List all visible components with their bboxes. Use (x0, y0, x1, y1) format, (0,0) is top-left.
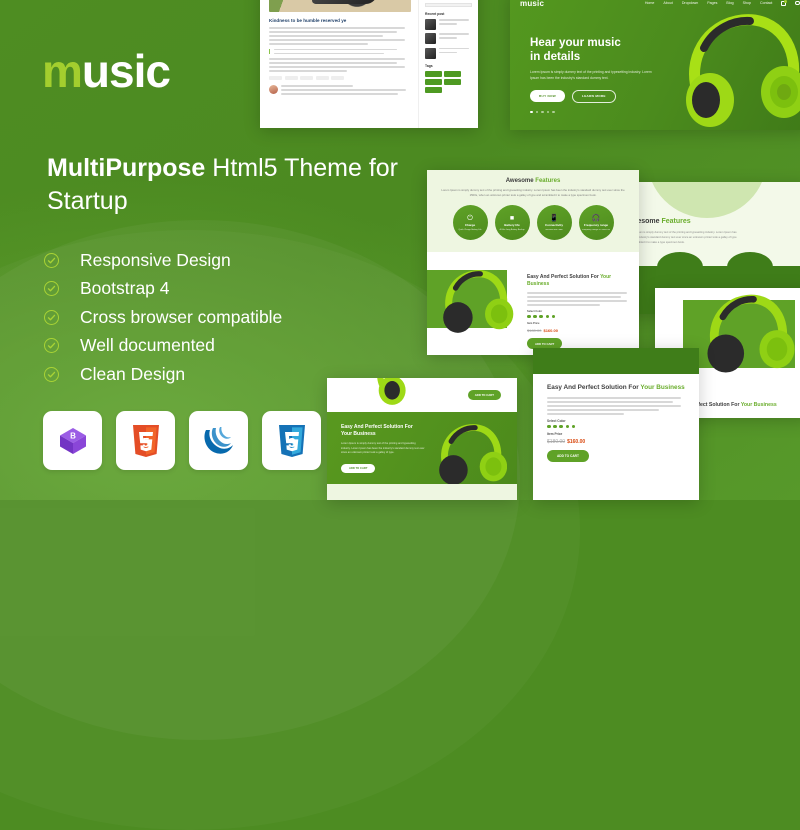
heading-accent: Your Business (741, 402, 777, 408)
color-swatch[interactable] (559, 425, 563, 429)
title-accent: Features (535, 178, 560, 184)
bluetooth-icon: 📱 (550, 215, 559, 222)
list-item: Clean Design (44, 360, 282, 389)
tag-chip[interactable] (444, 79, 461, 85)
color-swatch[interactable] (552, 315, 556, 319)
bottom-product-mockup: Easy And Perfect Solution For Your Busin… (533, 348, 699, 500)
feature-card-row: ⏻ Charge Quick Charge Battery Life ■ Bat… (441, 205, 625, 240)
search-icon[interactable] (795, 1, 800, 6)
buy-now-button[interactable]: BUY NOW (530, 90, 565, 102)
add-to-cart-button[interactable]: ADD TO CART (547, 450, 589, 462)
nav-item-pages[interactable]: Pages (707, 1, 717, 5)
feature-card-connectivity[interactable]: 📱 Connectivity Wireless and Cable (537, 205, 572, 240)
color-swatch[interactable] (527, 315, 531, 319)
hero-nav-menu: Home About Dropdown Pages Blog Shop Cont… (645, 1, 800, 6)
price-new: $160.00 (543, 328, 557, 333)
heading-plain: Easy And Perfect Solution For (547, 384, 640, 391)
slider-dots[interactable] (530, 111, 655, 114)
hero-copy-block: Hear your music in details Lorem Ipsum i… (530, 36, 655, 113)
svg-text:3: 3 (288, 435, 295, 450)
brand-logo-rest: usic (82, 45, 170, 97)
color-swatch[interactable] (553, 425, 557, 429)
hero-button-group: BUY NOW LEARN MORE (530, 90, 655, 103)
bottom-product-price: $180.00$160.00 (547, 439, 687, 445)
slider-dot[interactable] (536, 111, 539, 114)
select-color-label: Select Color (527, 310, 631, 313)
feature-name: Battery life (504, 223, 520, 227)
jquery-icon (202, 426, 236, 456)
list-item: Bootstrap 4 (44, 275, 282, 304)
feature-list: Responsive Design Bootstrap 4 Cross brow… (44, 246, 282, 389)
list-item: Well documented (44, 332, 282, 361)
sidebar-tags-heading: Tags (425, 64, 472, 68)
features-subtitle: Lorem Ipsum is simply dummy text of the … (441, 188, 625, 198)
bootstrap-icon: B (57, 425, 89, 457)
heading-plain: Easy And Perfect Solution For (527, 274, 600, 280)
feature-desc: Wireless and Cable (545, 229, 562, 232)
color-swatch[interactable] (546, 315, 550, 319)
title-plain: Awesome (506, 178, 536, 184)
tag-chip[interactable] (444, 71, 461, 77)
item-price-label: Item Price (547, 432, 687, 436)
list-item: Responsive Design (44, 246, 282, 275)
html5-badge: 5 (116, 411, 175, 470)
bootstrap-badge: B (43, 411, 102, 470)
features-section: Awesome Features Lorem Ipsum is simply d… (427, 170, 639, 252)
feature-desc: Frequency Range 20 20000 Hz (582, 229, 610, 232)
headline-bold: MultiPurpose (47, 154, 205, 182)
hero-paragraph: Lorem Ipsum is simply dummy text of the … (530, 70, 655, 81)
battery-icon: ■ (510, 215, 514, 222)
card-top-band (533, 348, 699, 374)
price-old: $180.00 (547, 439, 565, 445)
slider-dot[interactable] (552, 111, 555, 114)
bottom-product-heading: Easy And Perfect Solution For Your Busin… (547, 384, 687, 393)
heading-accent: Your Business (640, 384, 684, 391)
promo-panel: music MultiPurpose Html5 Theme for Start… (0, 0, 430, 500)
list-item: Cross browser compatible (44, 303, 282, 332)
product-copy: Easy And Perfect Solution For Your Busin… (527, 274, 631, 349)
sidebar-recent-heading: Recent post (425, 12, 472, 16)
jquery-badge (189, 411, 248, 470)
bottom-product-copy: Easy And Perfect Solution For Your Busin… (547, 384, 687, 462)
nav-item-contact[interactable]: Contact (760, 1, 772, 5)
hero-heading-line1: Hear your music (530, 36, 655, 50)
nav-item-home[interactable]: Home (645, 1, 655, 5)
check-circle-icon (44, 310, 59, 325)
sidebar-field[interactable] (425, 3, 472, 8)
features-page-mockup: Awesome Features Lorem Ipsum is simply d… (427, 170, 639, 355)
product-heading: Easy And Perfect Solution For Your Busin… (527, 274, 631, 288)
color-swatch[interactable] (539, 315, 543, 319)
feature-desc: Quick Charge Battery Life (459, 229, 482, 232)
plug-icon: ⏻ (467, 215, 473, 222)
headphone-illustration (433, 422, 507, 486)
nav-item-about[interactable]: About (663, 1, 672, 5)
page-title: MultiPurpose Html5 Theme for Startup (47, 152, 407, 217)
add-to-cart-button[interactable]: ADD TO CART (468, 390, 501, 400)
nav-item-shop[interactable]: Shop (743, 1, 751, 5)
svg-text:5: 5 (142, 435, 149, 450)
color-swatch[interactable] (533, 315, 537, 319)
feature-label: Responsive Design (80, 250, 231, 271)
feature-card-frequency[interactable]: 🎧 Frequency range Frequency Range 20 200… (579, 205, 614, 240)
hero-heading: Hear your music in details (530, 36, 655, 64)
tech-badge-row: B 5 3 (43, 411, 321, 470)
color-swatch[interactable] (572, 425, 576, 429)
hero-page-mockup: music Home About Dropdown Pages Blog Sho… (510, 0, 800, 130)
feature-label: Cross browser compatible (80, 307, 282, 328)
price-old: $180.00 (527, 328, 541, 333)
decorative-curve (647, 182, 767, 218)
product-price: $180.00$160.00 (527, 328, 631, 333)
right-features-paragraph: Lorem Ipsum is simply dummy text of the … (627, 230, 737, 245)
hero-navbar: music Home About Dropdown Pages Blog Sho… (510, 0, 800, 14)
nav-item-dropdown[interactable]: Dropdown (682, 1, 698, 5)
select-color-label: Select Color (547, 419, 687, 423)
list-item[interactable] (425, 33, 472, 44)
feature-name: Frequency range (584, 223, 608, 227)
headphone-icon: 🎧 (592, 215, 601, 222)
slider-dot[interactable] (541, 111, 544, 114)
sidebar-tag-list (425, 71, 472, 93)
headphone-illustration (433, 268, 517, 334)
slider-dot[interactable] (547, 111, 550, 114)
css3-icon: 3 (277, 424, 307, 458)
learn-more-button[interactable]: LEARN MORE (572, 90, 616, 103)
check-circle-icon (44, 281, 59, 296)
list-item[interactable] (425, 48, 472, 59)
feature-name: Charge (465, 223, 475, 227)
hero-logo[interactable]: music (520, 0, 544, 8)
check-circle-icon (44, 367, 59, 382)
features-title: Awesome Features (441, 178, 625, 184)
feature-desc: 40 Hrs Long Battery Backup (499, 229, 524, 232)
color-swatches[interactable] (547, 425, 687, 429)
feature-name: Connectivity (545, 223, 563, 227)
product-section: Easy And Perfect Solution For Your Busin… (427, 252, 639, 355)
nav-item-blog[interactable]: Blog (726, 1, 733, 5)
item-price-label: Item Price (527, 322, 631, 325)
color-swatches[interactable] (527, 315, 631, 319)
feature-label: Well documented (80, 335, 215, 356)
slider-dot[interactable] (530, 111, 533, 114)
color-swatch[interactable] (566, 425, 570, 429)
check-circle-icon (44, 338, 59, 353)
title-accent: Features (662, 218, 691, 225)
feature-card-charge[interactable]: ⏻ Charge Quick Charge Battery Life (453, 205, 488, 240)
html5-icon: 5 (131, 424, 161, 458)
list-item[interactable] (425, 19, 472, 30)
brand-logo-accent: m (42, 45, 82, 97)
price-new: $160.00 (567, 439, 585, 445)
svg-text:B: B (70, 431, 76, 440)
css3-badge: 3 (262, 411, 321, 470)
brand-logo: music (42, 48, 170, 94)
feature-card-battery[interactable]: ■ Battery life 40 Hrs Long Battery Backu… (495, 205, 530, 240)
cart-icon[interactable] (781, 1, 786, 6)
hero-heading-line2: in details (530, 50, 655, 64)
feature-label: Bootstrap 4 (80, 278, 170, 299)
color-swatch[interactable] (547, 425, 551, 429)
headphone-illustration (699, 292, 795, 374)
headphone-illustration (680, 8, 800, 130)
check-circle-icon (44, 253, 59, 268)
feature-label: Clean Design (80, 364, 185, 385)
